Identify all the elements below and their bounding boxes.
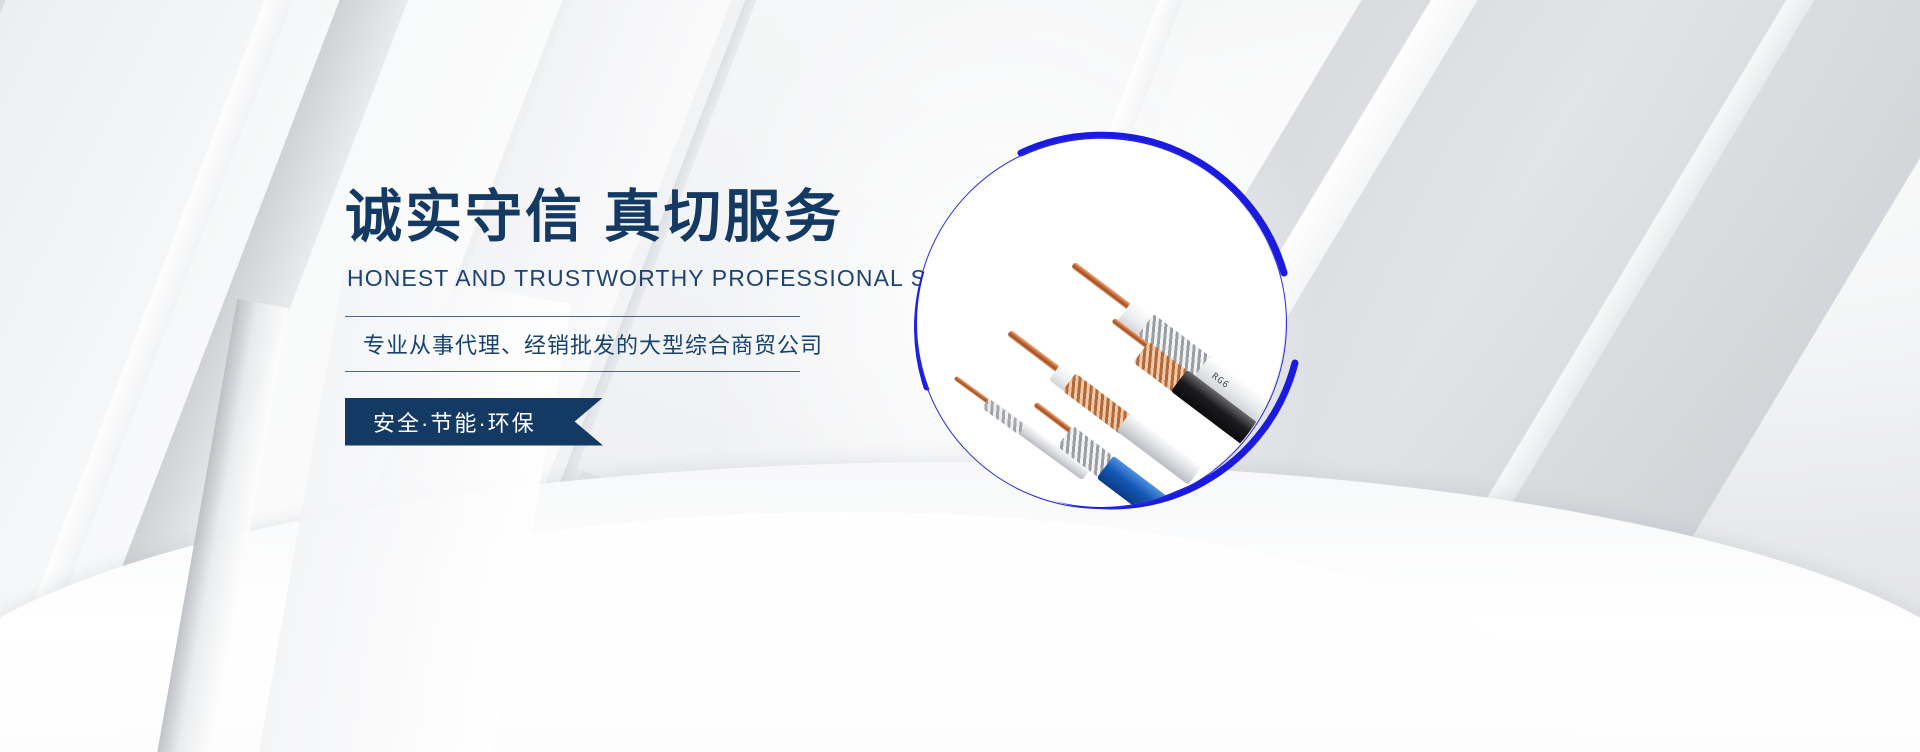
cable-photo: RG6 [917,139,1285,507]
description-chinese: 专业从事代理、经销批发的大型综合商贸公司 [345,317,800,371]
hero-banner: 诚实守信 真切服务 HONEST AND TRUSTWORTHY PROFESS… [0,0,1920,752]
banner-text-block: 诚实守信 真切服务 HONEST AND TRUSTWORTHY PROFESS… [345,185,965,446]
description-block: 专业从事代理、经销批发的大型综合商贸公司 [345,316,800,372]
product-circle: RG6 [903,125,1303,525]
ribbon-label: 安全·节能·环保 [345,406,536,438]
cable-photo-content: RG6 [917,139,1285,507]
divider-top [345,316,800,317]
divider-bottom [345,371,800,372]
subtitle-english: HONEST AND TRUSTWORTHY PROFESSIONAL SERV… [347,265,965,292]
feature-ribbon-badge: 安全·节能·环保 [345,398,603,446]
page-title: 诚实守信 真切服务 [345,185,965,251]
cable-1-braid [981,398,1025,435]
